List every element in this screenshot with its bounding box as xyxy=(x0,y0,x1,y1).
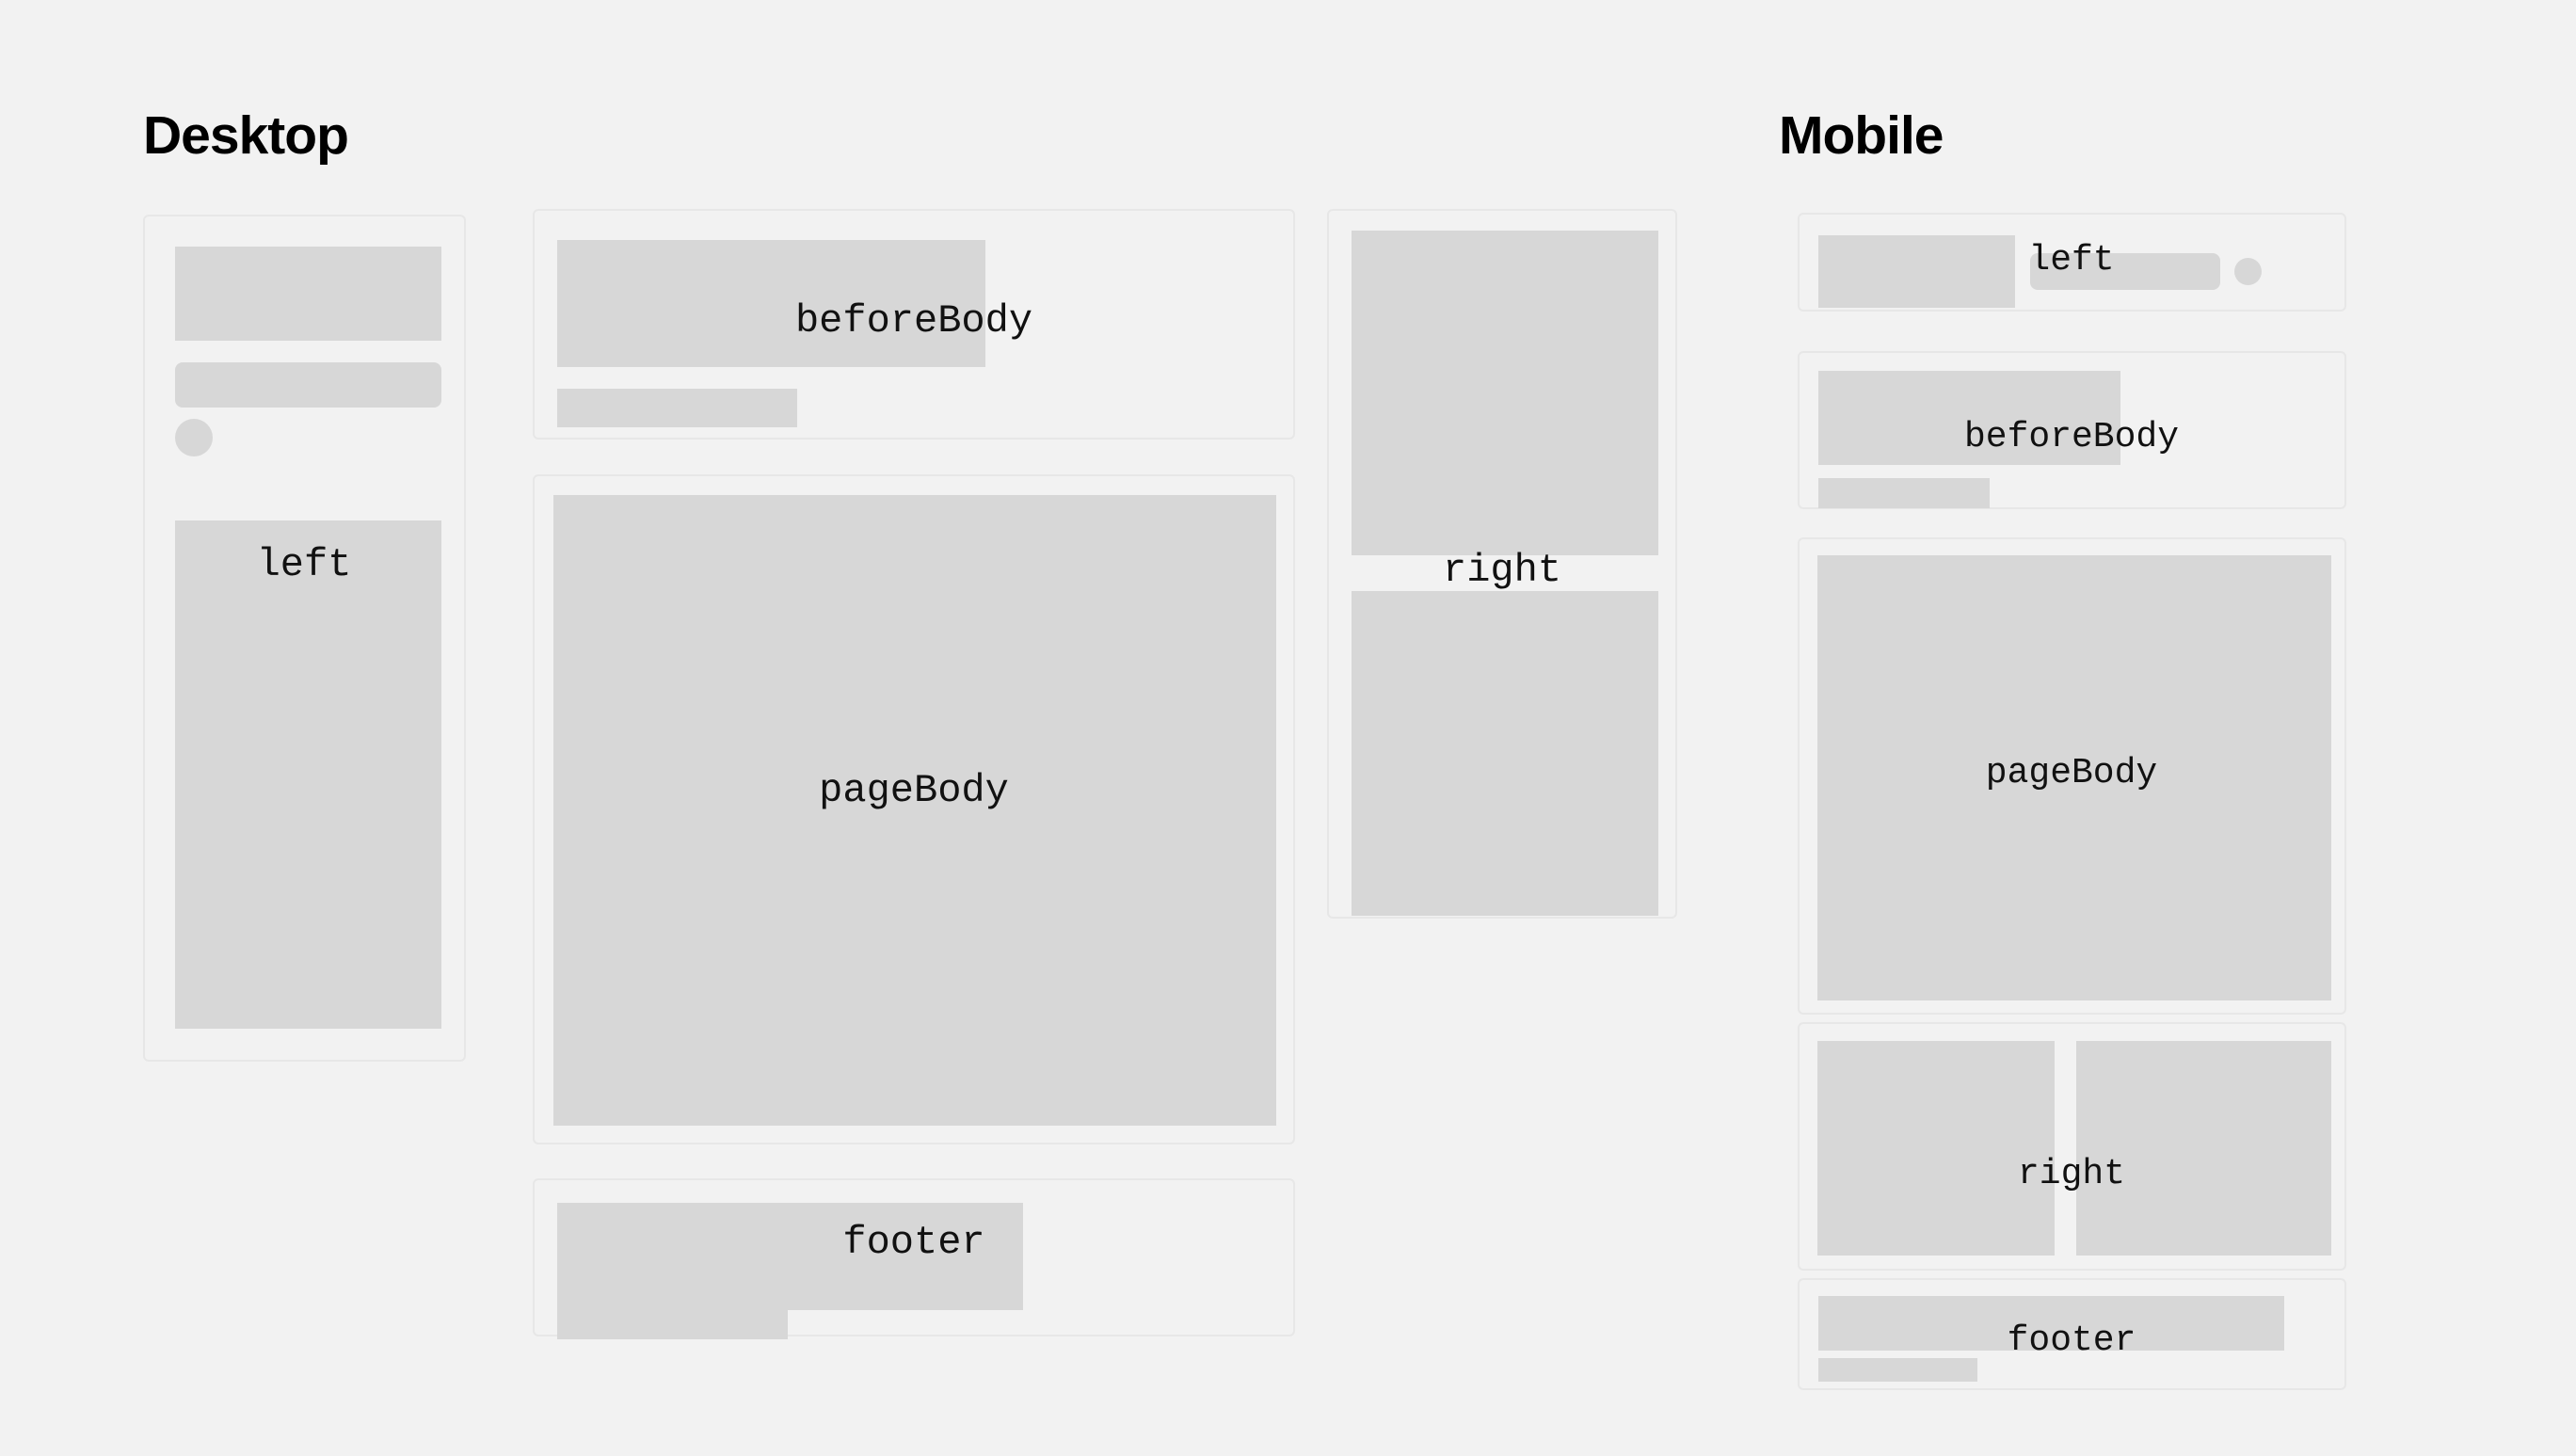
desktop-region-beforebody[interactable] xyxy=(533,209,1295,440)
skeleton-block-bar xyxy=(2030,253,2220,290)
skeleton-block-footer-sub xyxy=(557,1304,788,1339)
skeleton-block-footer-main xyxy=(557,1203,1023,1310)
desktop-region-left[interactable] xyxy=(143,215,466,1062)
skeleton-block-caption xyxy=(1818,478,1990,508)
skeleton-block-widget-right xyxy=(2076,1041,2331,1256)
skeleton-block-hero xyxy=(1818,371,2120,465)
skeleton-block-content xyxy=(1817,555,2331,1000)
mobile-region-beforebody[interactable] xyxy=(1798,351,2346,509)
skeleton-block-hero xyxy=(557,240,985,367)
skeleton-block-header xyxy=(175,247,441,341)
desktop-region-right[interactable] xyxy=(1327,209,1677,919)
skeleton-block-footer-main xyxy=(1818,1296,2284,1351)
skeleton-block-widget-left xyxy=(1817,1041,2055,1256)
desktop-region-pagebody[interactable] xyxy=(533,474,1295,1144)
skeleton-block-body xyxy=(175,520,441,1029)
mobile-region-pagebody[interactable] xyxy=(1798,537,2346,1015)
skeleton-block-content xyxy=(553,495,1276,1126)
page-title-desktop: Desktop xyxy=(143,109,348,163)
skeleton-block-footer-sub xyxy=(1818,1358,1977,1382)
mobile-region-footer[interactable] xyxy=(1798,1278,2346,1390)
skeleton-block-avatar-circle xyxy=(2234,258,2262,285)
page-title-mobile: Mobile xyxy=(1779,109,1944,163)
desktop-region-footer[interactable] xyxy=(533,1178,1295,1336)
skeleton-block-thumb xyxy=(1818,235,2015,308)
skeleton-block-avatar-circle xyxy=(175,419,213,456)
skeleton-block-widget-bottom xyxy=(1352,591,1658,916)
mobile-region-right[interactable] xyxy=(1798,1022,2346,1271)
skeleton-block-bar xyxy=(175,362,441,408)
skeleton-block-caption xyxy=(557,389,797,427)
skeleton-block-widget-top xyxy=(1352,231,1658,555)
mobile-region-left[interactable] xyxy=(1798,213,2346,312)
